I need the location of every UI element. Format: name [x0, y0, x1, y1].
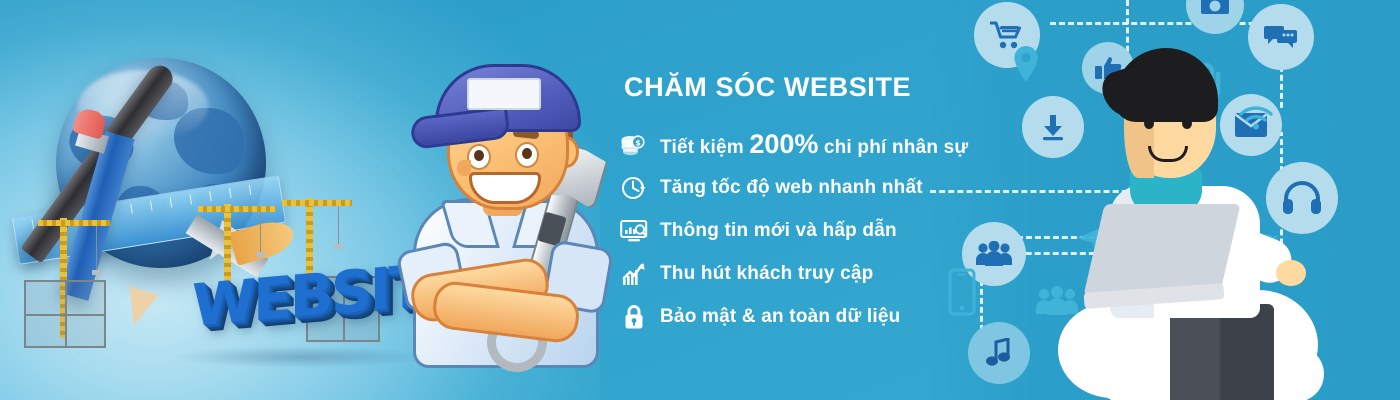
left-illustration: WEBSITE [20, 28, 410, 368]
pencil-tip [120, 287, 159, 330]
feature-label: Bảo mật & an toàn dữ liệu [660, 306, 900, 328]
svg-text:$: $ [635, 138, 641, 147]
scaffolding-icon [24, 280, 106, 348]
right-illustration [940, 0, 1400, 400]
map-pin-icon [1012, 46, 1040, 87]
clock-speed-icon [618, 173, 650, 203]
feature-label: Thu hút khách truy cập [660, 263, 873, 285]
download-icon [1022, 96, 1084, 158]
monitor-analytics-icon [618, 216, 650, 246]
growth-chart-icon [618, 259, 650, 289]
laptop-screen [1083, 204, 1240, 296]
mobile-phone-icon [948, 268, 976, 321]
money-coins-icon: $ [618, 130, 650, 160]
website-care-banner: WEBSITE CHĂM SÓC WEBSITE [0, 0, 1400, 400]
feature-label: Tiết kiệm 200% chi phí nhân sự [660, 129, 968, 160]
mechanic-character [395, 50, 610, 380]
music-note-icon [968, 322, 1030, 384]
feature-label: Thông tin mới và hấp dẫn [660, 220, 897, 242]
feature-label: Tăng tốc độ web nhanh nhất [660, 177, 923, 199]
cap-patch [467, 78, 541, 110]
left-ground-shadow [170, 346, 430, 368]
padlock-icon [618, 302, 650, 332]
man-with-laptop [1090, 48, 1320, 378]
